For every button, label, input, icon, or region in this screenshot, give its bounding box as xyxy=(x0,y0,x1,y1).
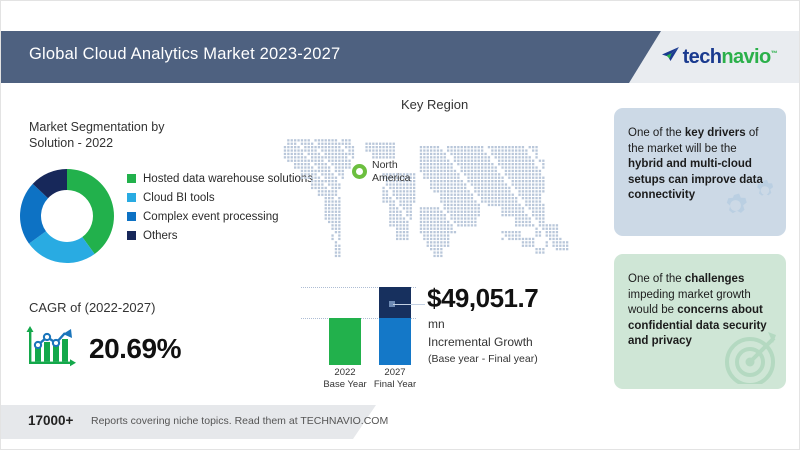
map-dot xyxy=(491,180,493,182)
map-dot xyxy=(532,194,534,196)
map-dot xyxy=(406,187,408,189)
map-dot xyxy=(498,180,500,182)
map-dot xyxy=(522,173,524,175)
map-dot xyxy=(515,217,517,219)
map-dot xyxy=(427,241,429,243)
map-dot xyxy=(331,228,333,230)
map-dot xyxy=(461,146,463,148)
map-dot xyxy=(525,238,527,240)
map-dot xyxy=(311,149,313,151)
map-dot xyxy=(427,160,429,162)
map-dot xyxy=(389,149,391,151)
map-dot xyxy=(505,173,507,175)
map-dot xyxy=(440,200,442,202)
map-dot xyxy=(396,214,398,216)
map-dot xyxy=(437,149,439,151)
map-dot xyxy=(403,238,405,240)
map-dot xyxy=(444,160,446,162)
map-dot xyxy=(396,224,398,226)
map-dot xyxy=(546,241,548,243)
challenges-text: One of the challenges impeding market gr… xyxy=(614,254,786,350)
map-dot xyxy=(427,163,429,165)
map-dot xyxy=(454,146,456,148)
map-dot xyxy=(450,149,452,151)
map-dot xyxy=(338,214,340,216)
map-dot xyxy=(301,156,303,158)
map-dot xyxy=(515,211,517,213)
logo-text-tech: tech xyxy=(683,46,722,68)
map-dot xyxy=(297,139,299,141)
map-dot xyxy=(444,200,446,202)
map-dot xyxy=(535,211,537,213)
map-dot xyxy=(318,143,320,145)
technavio-arrow-icon xyxy=(660,46,680,69)
map-dot xyxy=(535,149,537,151)
map-dot xyxy=(542,251,544,253)
map-dot xyxy=(457,211,459,213)
map-dot xyxy=(484,160,486,162)
map-dot xyxy=(437,234,439,236)
map-dot xyxy=(512,153,514,155)
map-dot xyxy=(308,163,310,165)
segmentation-title: Market Segmentation by Solution - 2022 xyxy=(29,119,199,151)
map-dot xyxy=(379,149,381,151)
logo-trademark: ™ xyxy=(771,50,777,57)
map-dot xyxy=(406,200,408,202)
map-dot xyxy=(410,190,412,192)
map-dot xyxy=(525,180,527,182)
map-dot xyxy=(505,187,507,189)
map-dot xyxy=(430,231,432,233)
map-dot xyxy=(430,245,432,247)
map-dot xyxy=(427,214,429,216)
map-dot xyxy=(314,153,316,155)
map-dot xyxy=(471,200,473,202)
map-dot xyxy=(498,163,500,165)
map-dot xyxy=(433,207,435,209)
map-dot xyxy=(311,143,313,145)
map-dot xyxy=(318,187,320,189)
map-dot xyxy=(522,146,524,148)
map-dot xyxy=(396,190,398,192)
map-dot xyxy=(518,234,520,236)
map-dot xyxy=(345,166,347,168)
map-dot xyxy=(427,211,429,213)
map-dot xyxy=(464,204,466,206)
map-dot xyxy=(512,149,514,151)
map-dot xyxy=(532,204,534,206)
map-dot xyxy=(464,211,466,213)
map-dot xyxy=(314,187,316,189)
map-dot xyxy=(467,217,469,219)
map-dot xyxy=(433,170,435,172)
map-dot xyxy=(542,177,544,179)
map-dot xyxy=(535,177,537,179)
map-dot xyxy=(444,173,446,175)
map-dot xyxy=(393,143,395,145)
map-dot xyxy=(464,194,466,196)
map-dot xyxy=(447,228,449,230)
map-dot xyxy=(467,173,469,175)
map-dot xyxy=(318,153,320,155)
map-dot xyxy=(532,160,534,162)
map-dot xyxy=(461,166,463,168)
map-label-line1: North xyxy=(372,159,398,171)
map-dot xyxy=(287,143,289,145)
map-dot xyxy=(461,156,463,158)
map-dot xyxy=(321,166,323,168)
map-dot xyxy=(287,160,289,162)
map-dot xyxy=(454,211,456,213)
map-dot xyxy=(525,183,527,185)
map-dot xyxy=(406,190,408,192)
map-dot xyxy=(301,170,303,172)
map-dot xyxy=(529,187,531,189)
bar-2027 xyxy=(379,287,411,365)
map-dot xyxy=(535,207,537,209)
map-dot xyxy=(457,146,459,148)
map-dot xyxy=(447,177,449,179)
map-dot xyxy=(331,173,333,175)
map-dot xyxy=(457,153,459,155)
map-dot xyxy=(318,177,320,179)
map-dot xyxy=(437,180,439,182)
map-dot xyxy=(491,204,493,206)
bar-2022 xyxy=(329,318,361,365)
map-dot xyxy=(427,228,429,230)
map-dot xyxy=(331,217,333,219)
map-dot xyxy=(325,156,327,158)
map-dot xyxy=(338,173,340,175)
map-dot xyxy=(314,149,316,151)
map-dot xyxy=(348,143,350,145)
map-dot xyxy=(342,166,344,168)
map-dot xyxy=(478,204,480,206)
map-dot xyxy=(410,217,412,219)
map-dot xyxy=(321,187,323,189)
map-dot xyxy=(410,207,412,209)
map-dot xyxy=(338,187,340,189)
map-dot xyxy=(444,221,446,223)
map-dot xyxy=(328,153,330,155)
map-dot xyxy=(566,245,568,247)
map-dot xyxy=(461,160,463,162)
map-dot xyxy=(372,146,374,148)
map-dot xyxy=(563,241,565,243)
map-dot xyxy=(508,238,510,240)
map-dot xyxy=(532,166,534,168)
map-marker-icon xyxy=(352,164,367,179)
map-dot xyxy=(556,238,558,240)
map-dot xyxy=(566,241,568,243)
map-dot xyxy=(413,183,415,185)
map-dot xyxy=(427,231,429,233)
map-dot xyxy=(444,207,446,209)
map-dot xyxy=(382,153,384,155)
map-dot xyxy=(301,160,303,162)
map-dot xyxy=(532,224,534,226)
map-dot xyxy=(535,197,537,199)
map-dot xyxy=(433,187,435,189)
map-dot xyxy=(501,207,503,209)
map-dot xyxy=(338,170,340,172)
map-dot xyxy=(447,211,449,213)
map-dot xyxy=(522,163,524,165)
map-dot xyxy=(542,217,544,219)
map-dot xyxy=(488,160,490,162)
map-dot xyxy=(491,170,493,172)
map-dot xyxy=(454,187,456,189)
map-dot xyxy=(399,187,401,189)
map-dot xyxy=(539,248,541,250)
map-dot xyxy=(542,166,544,168)
map-dot xyxy=(369,149,371,151)
map-dot xyxy=(437,173,439,175)
map-dot xyxy=(474,163,476,165)
map-dot xyxy=(525,214,527,216)
map-dot xyxy=(454,221,456,223)
map-dot xyxy=(325,149,327,151)
map-dot xyxy=(518,190,520,192)
map-dot xyxy=(529,238,531,240)
map-dot xyxy=(331,194,333,196)
map-dot xyxy=(301,149,303,151)
map-dot xyxy=(529,163,531,165)
map-dot xyxy=(318,163,320,165)
map-dot xyxy=(454,207,456,209)
map-dot xyxy=(518,238,520,240)
growth-subcaption: (Base year - Final year) xyxy=(428,353,538,365)
map-dot xyxy=(484,170,486,172)
map-dot xyxy=(433,217,435,219)
map-dot xyxy=(420,149,422,151)
map-dot xyxy=(440,170,442,172)
map-dot xyxy=(491,173,493,175)
map-dot xyxy=(321,156,323,158)
map-dot xyxy=(529,160,531,162)
map-dot xyxy=(457,180,459,182)
map-dot xyxy=(437,231,439,233)
map-dot xyxy=(471,153,473,155)
map-dot xyxy=(457,214,459,216)
map-dot xyxy=(532,190,534,192)
map-dot xyxy=(450,217,452,219)
cagr-value: 20.69% xyxy=(89,333,181,365)
map-dot xyxy=(447,231,449,233)
map-dot xyxy=(328,221,330,223)
map-dot xyxy=(338,228,340,230)
map-dot xyxy=(461,207,463,209)
map-dot xyxy=(314,160,316,162)
map-dot xyxy=(542,248,544,250)
map-dot xyxy=(508,160,510,162)
map-dot xyxy=(399,214,401,216)
map-dot xyxy=(440,183,442,185)
map-dot xyxy=(430,187,432,189)
map-dot xyxy=(505,211,507,213)
map-dot xyxy=(399,231,401,233)
map-dot xyxy=(508,190,510,192)
map-dot xyxy=(488,190,490,192)
map-dot xyxy=(467,200,469,202)
map-dot xyxy=(301,166,303,168)
map-dot xyxy=(311,170,313,172)
map-dot xyxy=(515,177,517,179)
map-dot xyxy=(535,231,537,233)
map-dot xyxy=(325,214,327,216)
map-dot xyxy=(529,217,531,219)
map-dot xyxy=(471,217,473,219)
map-dot xyxy=(437,228,439,230)
map-dot xyxy=(335,224,337,226)
map-dot xyxy=(457,197,459,199)
bar-label-2027: 2027 Final Year xyxy=(360,367,430,391)
map-dot xyxy=(518,211,520,213)
map-dot xyxy=(386,149,388,151)
map-dot xyxy=(501,190,503,192)
map-dot xyxy=(495,194,497,196)
map-dot xyxy=(474,183,476,185)
map-dot xyxy=(444,204,446,206)
map-dot xyxy=(325,166,327,168)
map-dot xyxy=(423,177,425,179)
map-dot xyxy=(433,153,435,155)
map-dot xyxy=(467,180,469,182)
map-dot xyxy=(338,234,340,236)
map-dot xyxy=(430,183,432,185)
map-dot xyxy=(481,170,483,172)
map-dot xyxy=(301,177,303,179)
map-dot xyxy=(518,170,520,172)
map-dot xyxy=(291,143,293,145)
map-dot xyxy=(393,214,395,216)
map-dot xyxy=(542,163,544,165)
map-dot xyxy=(484,166,486,168)
map-dot xyxy=(413,187,415,189)
map-dot xyxy=(382,200,384,202)
map-dot xyxy=(525,197,527,199)
map-dot xyxy=(301,143,303,145)
map-dot xyxy=(518,194,520,196)
map-dot xyxy=(450,166,452,168)
map-dot xyxy=(505,190,507,192)
map-dot xyxy=(474,156,476,158)
map-dot xyxy=(464,153,466,155)
map-dot xyxy=(535,194,537,196)
map-dot xyxy=(420,224,422,226)
map-dot xyxy=(297,149,299,151)
map-dot xyxy=(393,153,395,155)
leader-line xyxy=(393,304,425,305)
map-dot xyxy=(450,211,452,213)
map-dot xyxy=(539,251,541,253)
map-dot xyxy=(338,231,340,233)
map-dot xyxy=(467,166,469,168)
map-dot xyxy=(461,194,463,196)
map-dot xyxy=(352,149,354,151)
map-dot xyxy=(488,156,490,158)
map-dot xyxy=(304,146,306,148)
map-dot xyxy=(393,207,395,209)
map-dot xyxy=(515,224,517,226)
map-dot xyxy=(529,194,531,196)
map-dot xyxy=(437,146,439,148)
map-dot xyxy=(430,146,432,148)
map-dot xyxy=(342,156,344,158)
map-dot xyxy=(430,211,432,213)
map-dot xyxy=(420,146,422,148)
map-dot xyxy=(542,211,544,213)
map-dot xyxy=(450,207,452,209)
map-dot xyxy=(318,180,320,182)
map-dot xyxy=(403,228,405,230)
map-dot xyxy=(399,211,401,213)
map-dot xyxy=(450,187,452,189)
map-dot xyxy=(484,163,486,165)
map-dot xyxy=(549,238,551,240)
map-dot xyxy=(481,163,483,165)
map-dot xyxy=(440,190,442,192)
map-dot xyxy=(488,146,490,148)
map-dot xyxy=(287,146,289,148)
map-dot xyxy=(474,204,476,206)
map-dot xyxy=(338,163,340,165)
map-dot xyxy=(430,241,432,243)
map-dot xyxy=(495,187,497,189)
map-dot xyxy=(389,221,391,223)
map-dot xyxy=(484,187,486,189)
map-dot xyxy=(338,207,340,209)
map-dot xyxy=(532,187,534,189)
map-dot xyxy=(522,160,524,162)
map-dot xyxy=(515,207,517,209)
map-dot xyxy=(406,231,408,233)
key-drivers-panel: One of the key drivers of the market wil… xyxy=(614,108,786,236)
map-dot xyxy=(430,214,432,216)
map-dot xyxy=(427,245,429,247)
map-dot xyxy=(382,197,384,199)
map-dot xyxy=(413,194,415,196)
map-dot xyxy=(304,177,306,179)
map-dot xyxy=(471,149,473,151)
map-dot xyxy=(474,166,476,168)
map-dot xyxy=(508,163,510,165)
map-dot xyxy=(423,160,425,162)
map-dot xyxy=(304,170,306,172)
map-dot xyxy=(515,166,517,168)
map-dot xyxy=(505,146,507,148)
map-dot xyxy=(471,221,473,223)
map-dot xyxy=(495,156,497,158)
map-dot xyxy=(393,224,395,226)
map-dot xyxy=(345,153,347,155)
map-dot xyxy=(522,177,524,179)
map-dot xyxy=(464,146,466,148)
map-dot xyxy=(352,146,354,148)
map-dot xyxy=(423,211,425,213)
map-dot xyxy=(512,200,514,202)
map-dot xyxy=(501,187,503,189)
map-dot xyxy=(406,194,408,196)
map-dot xyxy=(382,190,384,192)
map-dot xyxy=(335,160,337,162)
map-dot xyxy=(457,149,459,151)
map-dot xyxy=(454,214,456,216)
map-dot xyxy=(525,241,527,243)
map-dot xyxy=(525,149,527,151)
map-dot xyxy=(518,173,520,175)
map-dot xyxy=(335,248,337,250)
